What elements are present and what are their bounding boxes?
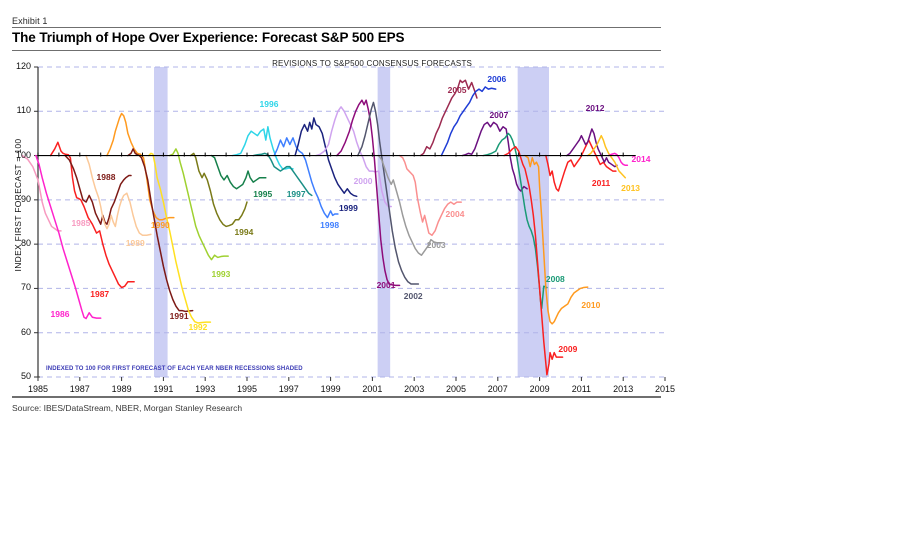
series-label-1998: 1998	[320, 220, 339, 230]
source-note: Source: IBES/DataStream, NBER, Morgan St…	[12, 403, 242, 413]
series-label-1995: 1995	[253, 189, 272, 199]
y-tick-label: 90	[5, 194, 31, 204]
chart-plot-area: INDEX FIRST FORECAST = 100 5060708090100…	[0, 52, 690, 392]
series-label-2006: 2006	[487, 74, 506, 84]
x-tick-label: 1993	[187, 384, 223, 394]
page-title: The Triumph of Hope Over Experience: For…	[12, 30, 404, 45]
x-tick-label: 1989	[104, 384, 140, 394]
series-label-2013: 2013	[621, 183, 640, 193]
series-label-1996: 1996	[260, 99, 279, 109]
series-label-2001: 2001	[377, 280, 396, 290]
series-label-1985: 1985	[71, 218, 90, 228]
series-label-1991: 1991	[170, 311, 189, 321]
series-line-1998	[274, 138, 338, 218]
x-tick-label: 1991	[145, 384, 181, 394]
series-label-2005: 2005	[448, 85, 467, 95]
rule-bottom	[12, 396, 661, 398]
series-label-2008: 2008	[546, 274, 565, 284]
series-label-2004: 2004	[446, 209, 465, 219]
x-tick-label: 2013	[605, 384, 641, 394]
series-label-2012: 2012	[586, 103, 605, 113]
y-tick-label: 120	[5, 61, 31, 71]
exhibit-label: Exhibit 1	[12, 16, 47, 26]
y-tick-label: 70	[5, 282, 31, 292]
x-tick-label: 2001	[354, 384, 390, 394]
y-tick-label: 60	[5, 327, 31, 337]
rule-middle	[12, 50, 661, 51]
series-line-1989	[86, 156, 151, 236]
series-label-2002: 2002	[404, 291, 423, 301]
x-tick-label: 2009	[522, 384, 558, 394]
x-tick-label: 1995	[229, 384, 265, 394]
series-label-1994: 1994	[234, 227, 253, 237]
x-tick-label: 1987	[62, 384, 98, 394]
series-label-1999: 1999	[339, 203, 358, 213]
y-tick-label: 110	[5, 105, 31, 115]
y-tick-label: 50	[5, 371, 31, 381]
x-tick-label: 2015	[647, 384, 683, 394]
series-label-2014: 2014	[632, 154, 651, 164]
x-tick-label: 1985	[20, 384, 56, 394]
series-line-2006	[441, 87, 495, 156]
series-label-2003: 2003	[427, 240, 446, 250]
series-line-1993	[170, 149, 229, 260]
series-label-1990: 1990	[151, 220, 170, 230]
x-tick-label: 2011	[563, 384, 599, 394]
series-label-1988: 1988	[97, 172, 116, 182]
series-label-1987: 1987	[90, 289, 109, 299]
chart-subtitle: REVISIONS TO S&P500 CONSENSUS FORECASTS	[272, 59, 472, 68]
series-label-2011: 2011	[592, 178, 610, 188]
series-line-1996	[232, 127, 293, 169]
series-line-1995	[211, 156, 265, 189]
series-label-2009: 2009	[558, 344, 577, 354]
rule-top	[12, 27, 661, 28]
exhibit-page: Exhibit 1 The Triumph of Hope Over Exper…	[0, 0, 899, 548]
series-label-1989: 1989	[126, 238, 145, 248]
x-tick-label: 1999	[313, 384, 349, 394]
x-tick-label: 1997	[271, 384, 307, 394]
series-label-1993: 1993	[211, 269, 230, 279]
y-tick-label: 80	[5, 238, 31, 248]
y-tick-label: 100	[5, 150, 31, 160]
series-label-2010: 2010	[581, 300, 600, 310]
chart-note: INDEXED TO 100 FOR FIRST FORECAST OF EAC…	[46, 366, 303, 372]
series-line-2004	[400, 156, 462, 236]
series-line-2013	[588, 136, 626, 178]
x-tick-label: 2003	[396, 384, 432, 394]
series-label-1986: 1986	[51, 309, 70, 319]
x-tick-label: 2005	[438, 384, 474, 394]
series-label-1997: 1997	[287, 189, 306, 199]
x-tick-label: 2007	[480, 384, 516, 394]
series-line-1994	[191, 153, 247, 226]
series-label-2000: 2000	[354, 176, 373, 186]
series-label-1992: 1992	[188, 322, 207, 332]
series-label-2007: 2007	[489, 110, 508, 120]
series-line-1987	[51, 142, 135, 287]
